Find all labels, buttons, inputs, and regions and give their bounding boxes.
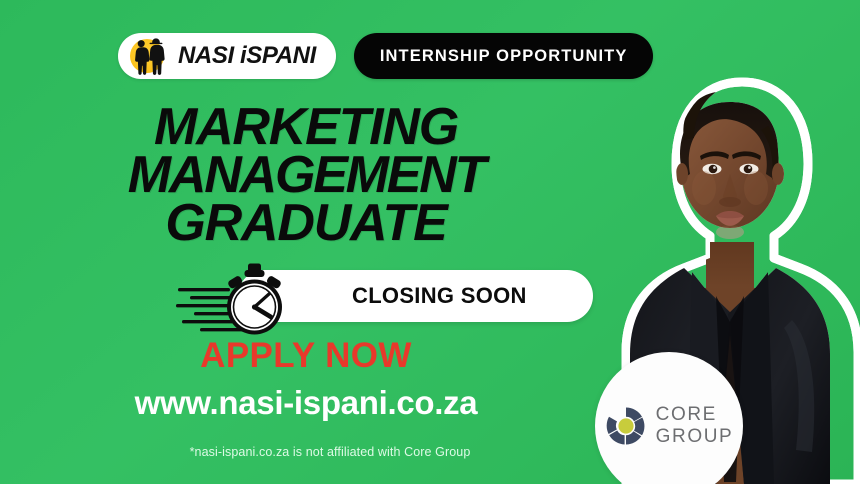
two-people-silhouette-icon bbox=[128, 36, 172, 76]
apply-now-text[interactable]: APPLY NOW bbox=[0, 336, 612, 376]
header-row: NASI iSPANI INTERNSHIP OPPORTUNITY bbox=[118, 33, 653, 79]
core-group-line-1: CORE bbox=[656, 404, 734, 426]
badge-label: INTERNSHIP OPPORTUNITY bbox=[380, 47, 628, 66]
brand-name: NASI iSPANI bbox=[178, 44, 316, 68]
closing-soon-label: CLOSING SOON bbox=[352, 283, 527, 309]
headline-line-2: MANAGEMENT bbox=[0, 152, 612, 200]
disclaimer-text: *nasi-ispani.co.za is not affiliated wit… bbox=[0, 445, 660, 459]
core-group-wordmark: CORE GROUP bbox=[656, 404, 734, 448]
closing-soon-group: CLOSING SOON bbox=[176, 262, 596, 334]
headline-line-1: MARKETING bbox=[0, 104, 612, 152]
stopwatch-icon bbox=[176, 262, 306, 341]
headline-line-3: GRADUATE bbox=[0, 200, 612, 248]
page-title: MARKETING MANAGEMENT GRADUATE bbox=[0, 104, 612, 247]
website-url[interactable]: www.nasi-ispani.co.za bbox=[0, 384, 612, 422]
poster-canvas: NASI iSPANI INTERNSHIP OPPORTUNITY MARKE… bbox=[0, 0, 860, 484]
core-group-mark-icon bbox=[605, 405, 647, 447]
core-group-line-2: GROUP bbox=[656, 426, 734, 448]
internship-opportunity-badge[interactable]: INTERNSHIP OPPORTUNITY bbox=[354, 33, 654, 79]
nasi-ispani-logo[interactable]: NASI iSPANI bbox=[118, 33, 336, 79]
